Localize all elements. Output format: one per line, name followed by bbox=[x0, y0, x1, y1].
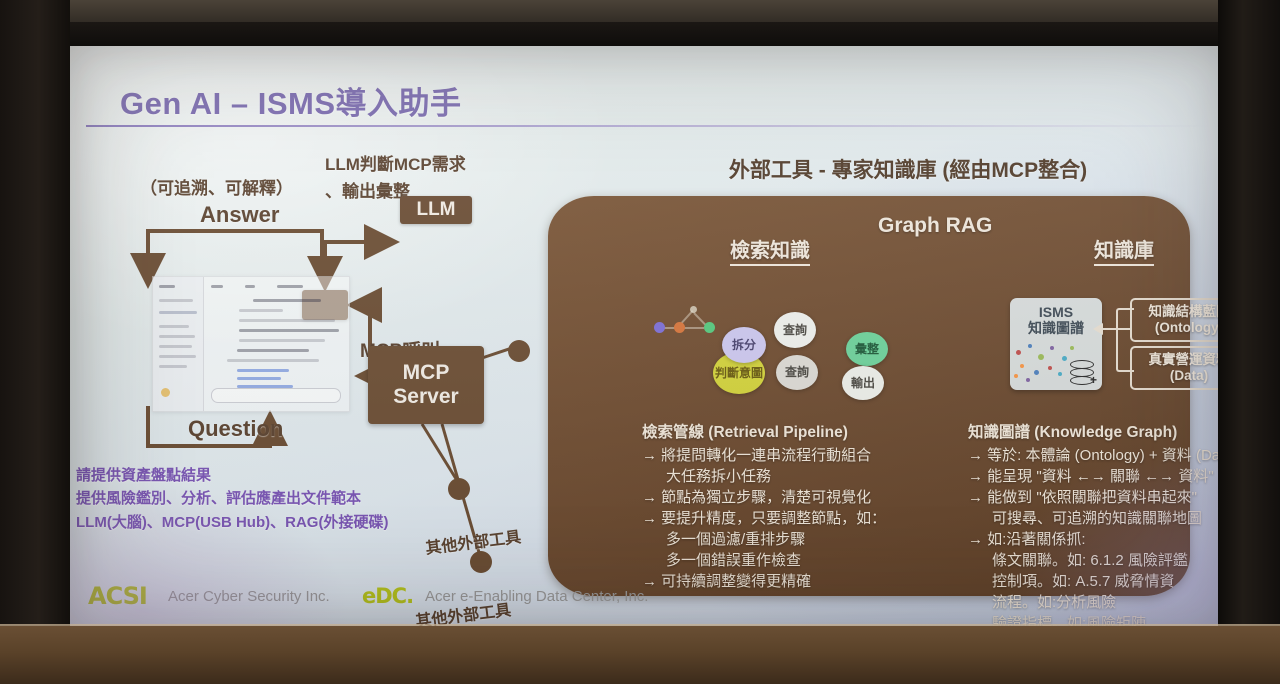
llm-need-label-line1: LLM判斷MCP需求 bbox=[325, 150, 466, 175]
screen-top-bar bbox=[58, 22, 1238, 48]
purple-note-line2: 提供風險鑑別、分析、評估應產出文件範本 bbox=[76, 487, 388, 510]
bubble-output: 輸出 bbox=[842, 366, 884, 400]
mock-line bbox=[159, 325, 189, 328]
right-panel-heading: 外部工具 - 專家知識庫 (經由MCP整合) bbox=[590, 154, 1226, 184]
mock-line bbox=[211, 285, 223, 288]
answer-label: Answer bbox=[200, 202, 279, 228]
mock-line bbox=[159, 311, 197, 314]
acsi-logo: ACSI bbox=[88, 582, 147, 610]
retrieval-item: → 要提升精度，只要調整節點，如： bbox=[642, 508, 972, 529]
retrieval-item: 多一個過濾/重排步驟 bbox=[642, 529, 972, 550]
data-line2: (Data) bbox=[1149, 368, 1227, 384]
retrieval-item: → 將提問轉化一連串流程行動組合 bbox=[642, 445, 972, 466]
llm-box: LLM bbox=[400, 196, 472, 224]
graph-node-purple bbox=[654, 322, 665, 333]
bubble-query-2: 查詢 bbox=[776, 355, 818, 390]
mock-line bbox=[159, 355, 196, 358]
mock-line bbox=[159, 285, 175, 288]
data-line1: 真實營運資料 bbox=[1149, 352, 1227, 368]
projected-slide-photo: Gen AI – ISMS導入助手 bbox=[0, 0, 1280, 684]
bottom-wall bbox=[0, 626, 1280, 684]
kb-card-title: ISMS 知識圖譜 bbox=[1010, 304, 1102, 336]
llm-need-label-line2: 、輸出彙整 bbox=[325, 177, 410, 202]
kb-card-line2: 知識圖譜 bbox=[1010, 320, 1102, 336]
left-wall bbox=[0, 0, 70, 684]
company-name-2: Acer e-Enabling Data Center, Inc. bbox=[425, 588, 648, 605]
retrieval-knowledge-title: 檢索知識 bbox=[730, 234, 810, 266]
graph-node-small bbox=[690, 306, 697, 313]
slide-footer: ACSI Acer Cyber Security Inc. eDC. Acer … bbox=[70, 578, 1226, 618]
ontology-line2: (Ontology) bbox=[1149, 320, 1227, 336]
mock-input bbox=[211, 388, 341, 403]
isms-knowledge-graph-card: ISMS 知識圖譜 + bbox=[1010, 298, 1102, 390]
mock-line bbox=[239, 329, 339, 332]
mock-line bbox=[159, 335, 195, 338]
mock-link bbox=[237, 369, 289, 372]
mcp-server-line2: Server bbox=[393, 385, 458, 409]
graph-node-orange bbox=[674, 322, 685, 333]
mock-line bbox=[277, 285, 303, 288]
mock-line bbox=[159, 365, 187, 368]
company-name-1: Acer Cyber Security Inc. bbox=[168, 588, 330, 605]
purple-note: 請提供資產盤點結果 提供風險鑑別、分析、評估應產出文件範本 LLM(大腦)、MC… bbox=[76, 464, 388, 534]
retrieval-item: 多一個錯誤重作檢查 bbox=[642, 550, 972, 571]
ontology-line1: 知識結構藍圖 bbox=[1149, 304, 1227, 320]
mock-line bbox=[227, 359, 319, 362]
mock-line bbox=[245, 285, 255, 288]
slide-canvas: Gen AI – ISMS導入助手 bbox=[70, 46, 1226, 632]
retrieval-item: → 節點為獨立步驟，清楚可視覺化 bbox=[642, 487, 972, 508]
graph-rag-title: Graph RAG bbox=[878, 214, 992, 238]
kb-arrow-icon bbox=[1102, 328, 1130, 330]
bubble-split: 拆分 bbox=[722, 327, 766, 363]
knowledge-base-title: 知識庫 bbox=[1094, 234, 1154, 266]
mock-line bbox=[159, 345, 192, 348]
kg-item: → 能做到 "依照關聯把資料串起來" bbox=[968, 487, 1226, 508]
mock-line bbox=[237, 349, 309, 352]
retrieval-pipeline-text: 檢索管線 (Retrieval Pipeline) → 將提問轉化一連串流程行動… bbox=[642, 420, 972, 592]
left-flow-diagram: （可追溯、可解釋） Answer LLM判斷MCP需求 、輸出彙整 LLM bbox=[70, 46, 590, 632]
database-icon: + bbox=[1070, 358, 1096, 386]
mcp-server-line1: MCP bbox=[403, 361, 450, 385]
connector-dot-tool1 bbox=[448, 478, 470, 500]
retrieval-item: 大任務拆小任務 bbox=[642, 466, 972, 487]
kg-item: → 等於: 本體論 (Ontology) + 資料 (Data) bbox=[968, 445, 1226, 466]
kg-item: → 能呈現 "資料 ←→ 關聯 ←→ 資料" bbox=[968, 466, 1226, 487]
mock-link bbox=[237, 377, 281, 380]
mock-avatar-dot bbox=[161, 388, 170, 397]
question-label: Question bbox=[188, 416, 283, 442]
chat-ui-screenshot-mock bbox=[152, 276, 350, 412]
ontology-box: 知識結構藍圖 (Ontology) bbox=[1130, 298, 1226, 342]
connector-dot-panel bbox=[508, 340, 530, 362]
bubble-query-1: 查詢 bbox=[774, 312, 816, 348]
answer-note-label: （可追溯、可解釋） bbox=[140, 174, 293, 199]
edc-logo-text: eDC. bbox=[362, 584, 413, 608]
retrieval-pipeline-title: 檢索管線 (Retrieval Pipeline) bbox=[642, 420, 972, 442]
kg-item: 條文關聯。如: 6.1.2 風險評鑑 bbox=[968, 550, 1226, 571]
knowledge-graph-title: 知識圖譜 (Knowledge Graph) bbox=[968, 420, 1226, 442]
mock-line bbox=[159, 299, 193, 302]
bubble-aggregate: 彙整 bbox=[846, 332, 888, 366]
acsi-logo-text: ACSI bbox=[88, 582, 147, 610]
mcp-server-box: MCP Server bbox=[368, 346, 484, 424]
mock-line bbox=[239, 339, 325, 342]
kb-card-line1: ISMS bbox=[1010, 304, 1102, 320]
graph-node-green bbox=[704, 322, 715, 333]
data-box: 真實營運資料 (Data) bbox=[1130, 346, 1226, 390]
mock-line bbox=[239, 319, 335, 322]
connector-dot-tool2 bbox=[470, 551, 492, 573]
right-wall bbox=[1218, 0, 1280, 684]
node-graph-icon bbox=[648, 304, 728, 352]
kg-item: → 如:沿著關係抓: bbox=[968, 529, 1226, 550]
mock-line bbox=[253, 299, 321, 302]
purple-note-line3: LLM(大腦)、MCP(USB Hub)、RAG(外接硬碟) bbox=[76, 511, 388, 534]
mock-line bbox=[239, 309, 283, 312]
edc-logo: eDC. bbox=[362, 584, 413, 608]
kg-item: 可搜尋、可追溯的知識關聯地圖 bbox=[968, 508, 1226, 529]
purple-note-line1: 請提供資產盤點結果 bbox=[76, 464, 388, 487]
